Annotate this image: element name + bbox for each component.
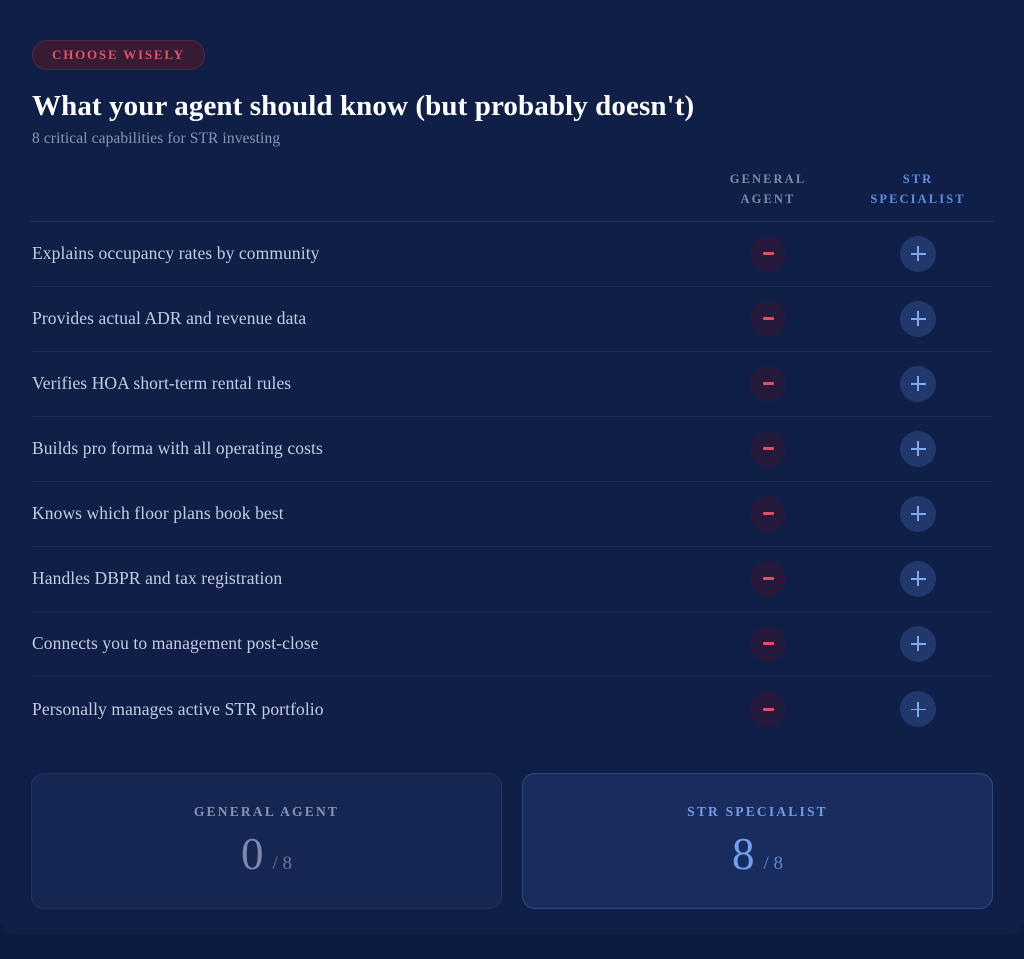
- summary-card-score-total: / 8: [272, 853, 292, 875]
- plus-icon: [900, 236, 936, 272]
- column-header-str-specialist-line2: SPECIALIST: [843, 190, 993, 209]
- table-row: Provides actual ADR and revenue data: [31, 287, 993, 352]
- capability-label: Knows which floor plans book best: [31, 503, 693, 524]
- minus-icon: [750, 301, 786, 337]
- column-header-str-specialist-line1: STR: [843, 170, 993, 189]
- summary-card-score-total: / 8: [763, 853, 783, 875]
- page-subtitle: 8 critical capabilities for STR investin…: [32, 130, 992, 148]
- cell-general-agent: [693, 496, 843, 532]
- cell-str-specialist: [843, 366, 993, 402]
- cell-general-agent: [693, 366, 843, 402]
- plus-icon: [900, 431, 936, 467]
- capability-label: Personally manages active STR portfolio: [31, 699, 693, 720]
- table-row: Personally manages active STR portfolio: [31, 677, 993, 742]
- summary-card-title: GENERAL AGENT: [194, 804, 339, 820]
- plus-icon: [900, 301, 936, 337]
- minus-icon: [750, 496, 786, 532]
- minus-icon: [750, 626, 786, 662]
- cell-general-agent: [693, 301, 843, 337]
- summary-card-score-value: 8: [732, 832, 755, 877]
- capability-label: Handles DBPR and tax registration: [31, 568, 693, 589]
- capability-label: Explains occupancy rates by community: [31, 243, 693, 264]
- capability-label: Builds pro forma with all operating cost…: [31, 438, 693, 459]
- summary-card-score-value: 0: [241, 832, 264, 877]
- minus-icon: [750, 236, 786, 272]
- cell-str-specialist: [843, 561, 993, 597]
- plus-icon: [900, 626, 936, 662]
- capability-label: Connects you to management post-close: [31, 633, 693, 654]
- plus-icon: [900, 366, 936, 402]
- summary-card-str-specialist: STR SPECIALIST 8 / 8: [522, 773, 993, 909]
- capability-label: Provides actual ADR and revenue data: [31, 308, 693, 329]
- table-header-row: GENERAL AGENT STR SPECIALIST: [31, 170, 993, 222]
- summary-card-title: STR SPECIALIST: [687, 804, 828, 820]
- cell-general-agent: [693, 431, 843, 467]
- table-row: Builds pro forma with all operating cost…: [31, 417, 993, 482]
- minus-icon: [750, 691, 786, 727]
- cell-str-specialist: [843, 691, 993, 727]
- cell-str-specialist: [843, 236, 993, 272]
- cell-str-specialist: [843, 626, 993, 662]
- table-row: Verifies HOA short-term rental rules: [31, 352, 993, 417]
- summary-card-score: 0 / 8: [241, 832, 292, 877]
- table-row: Knows which floor plans book best: [31, 482, 993, 547]
- table-body: Explains occupancy rates by communityPro…: [31, 222, 993, 742]
- comparison-panel: CHOOSE WISELY What your agent should kno…: [0, 0, 1024, 934]
- cell-general-agent: [693, 236, 843, 272]
- column-header-str-specialist: STR SPECIALIST: [843, 170, 993, 209]
- column-header-general-agent-line2: AGENT: [693, 190, 843, 209]
- summary-card-score: 8 / 8: [732, 832, 783, 877]
- summary-card-general-agent: GENERAL AGENT 0 / 8: [31, 773, 502, 909]
- cell-general-agent: [693, 626, 843, 662]
- cell-str-specialist: [843, 431, 993, 467]
- header: CHOOSE WISELY What your agent should kno…: [0, 0, 1024, 148]
- cell-general-agent: [693, 691, 843, 727]
- cell-str-specialist: [843, 496, 993, 532]
- table-row: Connects you to management post-close: [31, 612, 993, 677]
- plus-icon: [900, 561, 936, 597]
- minus-icon: [750, 561, 786, 597]
- cell-general-agent: [693, 561, 843, 597]
- comparison-table: GENERAL AGENT STR SPECIALIST Explains oc…: [31, 170, 993, 742]
- summary-cards: GENERAL AGENT 0 / 8 STR SPECIALIST 8 / 8: [31, 773, 993, 909]
- minus-icon: [750, 366, 786, 402]
- page-title: What your agent should know (but probabl…: [32, 89, 992, 123]
- table-row: Handles DBPR and tax registration: [31, 547, 993, 612]
- eyebrow-badge: CHOOSE WISELY: [32, 40, 205, 70]
- cell-str-specialist: [843, 301, 993, 337]
- plus-icon: [900, 496, 936, 532]
- minus-icon: [750, 431, 786, 467]
- column-header-general-agent-line1: GENERAL: [693, 170, 843, 189]
- capability-label: Verifies HOA short-term rental rules: [31, 373, 693, 394]
- column-header-general-agent: GENERAL AGENT: [693, 170, 843, 209]
- table-row: Explains occupancy rates by community: [31, 222, 993, 287]
- plus-icon: [900, 691, 936, 727]
